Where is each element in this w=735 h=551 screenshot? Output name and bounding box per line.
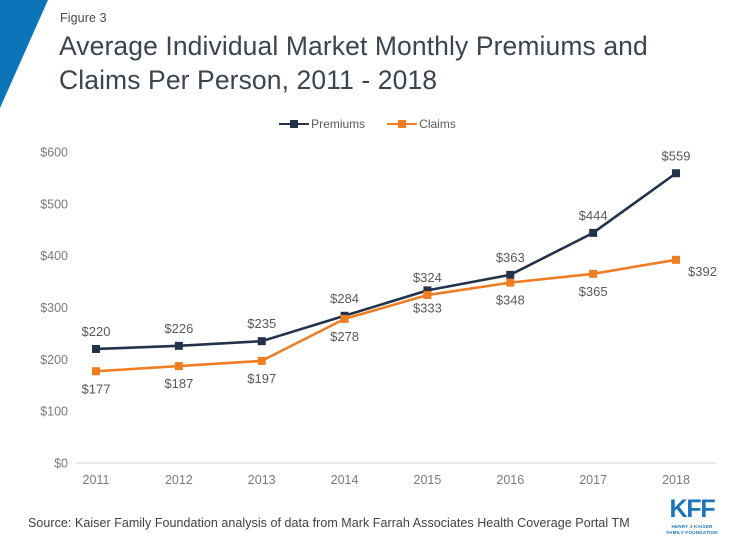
x-axis-tick-label: 2012 (165, 473, 193, 487)
data-point-label: $278 (330, 329, 359, 344)
y-axis-tick-label: $200 (40, 353, 68, 367)
data-point-marker[interactable] (258, 357, 266, 365)
legend-swatch-claims (387, 118, 417, 130)
line-chart-svg: $0$100$200$300$400$500$60020112012201320… (0, 140, 735, 490)
data-point-marker[interactable] (672, 256, 680, 264)
kff-logo-subtitle: HENRY J KAISER FAMILY FOUNDATION (663, 524, 721, 537)
data-point-marker[interactable] (92, 367, 100, 375)
chart-plot-area: $0$100$200$300$400$500$60020112012201320… (0, 140, 735, 490)
kff-logo: KFF HENRY J KAISER FAMILY FOUNDATION (663, 497, 721, 537)
data-point-label: $324 (413, 270, 442, 285)
x-axis-tick-label: 2016 (496, 473, 524, 487)
data-point-marker[interactable] (589, 270, 597, 278)
data-point-marker[interactable] (92, 345, 100, 353)
x-axis-tick-label: 2015 (414, 473, 442, 487)
kff-logo-mark: KFF (663, 497, 721, 522)
data-point-label: $333 (413, 300, 442, 315)
data-point-label: $197 (247, 371, 276, 386)
y-axis-tick-label: $100 (40, 405, 68, 419)
data-point-marker[interactable] (175, 362, 183, 370)
data-point-label: $235 (247, 316, 276, 331)
x-axis-tick-label: 2017 (579, 473, 607, 487)
x-axis-tick-label: 2018 (662, 473, 690, 487)
data-point-marker[interactable] (423, 291, 431, 299)
data-point-label: $444 (579, 208, 608, 223)
data-point-label: $559 (662, 148, 691, 163)
data-point-label: $187 (164, 376, 193, 391)
legend-label-premiums: Premiums (311, 117, 365, 131)
chart-legend: Premiums Claims (0, 117, 735, 131)
kff-logo-subtitle-line2: FAMILY FOUNDATION (663, 530, 721, 537)
data-point-label: $392 (688, 264, 717, 279)
data-point-marker[interactable] (589, 229, 597, 237)
x-axis-tick-label: 2011 (83, 473, 110, 487)
data-point-label: $226 (164, 321, 193, 336)
y-axis-tick-label: $400 (40, 249, 68, 263)
data-point-marker[interactable] (175, 342, 183, 350)
y-axis-tick-label: $600 (40, 146, 68, 160)
legend-label-claims: Claims (419, 117, 456, 131)
data-point-label: $284 (330, 291, 359, 306)
data-point-label: $177 (82, 381, 111, 396)
y-axis-tick-label: $500 (40, 197, 68, 211)
data-point-marker[interactable] (258, 337, 266, 345)
kff-logo-subtitle-line1: HENRY J KAISER (663, 524, 721, 531)
data-point-marker[interactable] (506, 279, 514, 287)
data-point-marker[interactable] (341, 315, 349, 323)
legend-item-premiums[interactable]: Premiums (279, 117, 365, 131)
data-point-label: $363 (496, 250, 525, 265)
figure-number-label: Figure 3 (60, 11, 107, 25)
x-axis-tick-label: 2013 (248, 473, 276, 487)
data-point-marker[interactable] (506, 271, 514, 279)
legend-item-claims[interactable]: Claims (387, 117, 456, 131)
y-axis-tick-label: $0 (54, 457, 68, 471)
series-line-claims (96, 260, 676, 371)
corner-accent-wedge (0, 0, 50, 110)
y-axis-tick-label: $300 (40, 301, 68, 315)
data-point-label: $220 (82, 324, 111, 339)
data-point-label: $348 (496, 293, 525, 308)
source-note: Source: Kaiser Family Foundation analysi… (28, 516, 630, 530)
legend-swatch-premiums (279, 118, 309, 130)
page-title: Average Individual Market Monthly Premiu… (59, 30, 709, 98)
data-point-marker[interactable] (672, 169, 680, 177)
x-axis-tick-label: 2014 (331, 473, 359, 487)
data-point-label: $365 (579, 284, 608, 299)
